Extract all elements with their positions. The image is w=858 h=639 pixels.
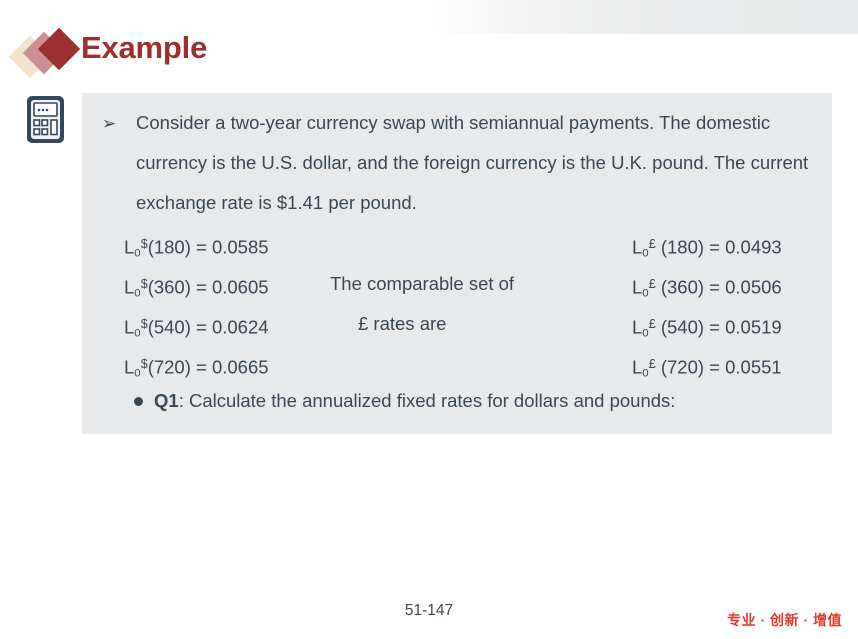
intro-paragraph-text: Consider a two-year currency swap with s…: [136, 103, 824, 223]
question-line: Q1: Calculate the annualized fixed rates…: [134, 381, 675, 421]
page-title: Example: [81, 30, 207, 66]
calculator-icon: [26, 95, 65, 144]
intro-paragraph-block: ➢ Consider a two-year currency swap with…: [94, 103, 824, 223]
slide-title-row: Example: [0, 28, 430, 84]
diamond-logo-icon: [14, 32, 84, 82]
formula-row: L0$(720) = 0.0665 L0£ (720) = 0.0551: [124, 344, 824, 384]
formula-middle-note: £ rates are: [358, 304, 446, 344]
round-bullet-icon: [134, 397, 143, 406]
formula-row: L0$(360) = 0.0605 The comparable set of …: [124, 264, 824, 304]
formula-grid: L0$(180) = 0.0585 L0£ (180) = 0.0493 L0$…: [124, 224, 824, 384]
question-text: : Calculate the annualized fixed rates f…: [179, 390, 676, 411]
brand-slogan: 专业 · 创新 · 增值: [727, 610, 842, 630]
content-panel: ➢ Consider a two-year currency swap with…: [82, 93, 832, 434]
formula-row: L0$(540) = 0.0624 £ rates are L0£ (540) …: [124, 304, 824, 344]
question-label: Q1: [154, 390, 179, 411]
formula-middle-note: The comparable set of: [330, 264, 514, 304]
formula-row: L0$(180) = 0.0585 L0£ (180) = 0.0493: [124, 224, 824, 264]
header-gradient-band: [430, 0, 858, 34]
arrow-bullet-icon: ➢: [102, 115, 116, 132]
